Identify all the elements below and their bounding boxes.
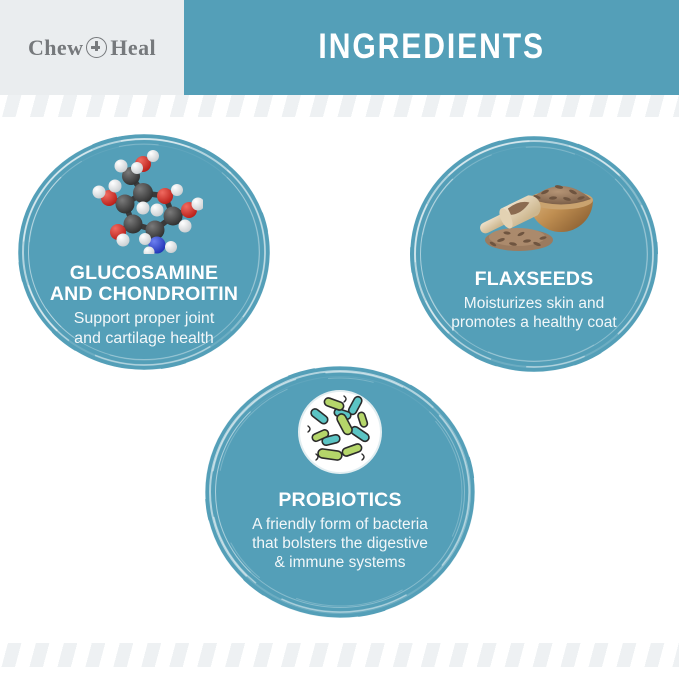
- brand-logo: Chew Heal: [28, 37, 156, 59]
- ingredient-circle-glucosamine: GLUCOSAMINE AND CHONDROITIN Support prop…: [18, 134, 270, 370]
- ingredient-title-glucosamine: GLUCOSAMINE AND CHONDROITIN: [50, 263, 238, 305]
- ingredient-desc-line1: Support proper joint: [74, 309, 215, 329]
- diagonal-stripe-band-top: [0, 95, 679, 117]
- bacteria-cluster-icon: [296, 388, 384, 481]
- ingredient-desc-line1: Moisturizes skin and: [451, 295, 616, 314]
- ingredient-title-line1: GLUCOSAMINE: [50, 263, 238, 284]
- ingredient-circle-probiotics: PROBIOTICS A friendly form of bacteria t…: [205, 366, 475, 618]
- ingredient-description-glucosamine: Support proper joint and cartilage healt…: [74, 309, 215, 348]
- ingredient-description-probiotics: A friendly form of bacteria that bolster…: [252, 516, 428, 573]
- title-panel: INGREDIENTS: [184, 0, 679, 95]
- ingredient-desc-line2: promotes a healthy coat: [451, 314, 616, 333]
- molecule-ball-and-stick-icon: [85, 146, 203, 259]
- ingredient-desc-line3: & immune systems: [252, 554, 428, 573]
- header-bar: Chew Heal INGREDIENTS: [0, 0, 679, 95]
- ingredient-title-probiotics: PROBIOTICS: [278, 490, 401, 511]
- diagonal-stripe-band-bottom: [0, 643, 679, 667]
- flaxseed-bowl-with-scoop-icon: [471, 158, 597, 259]
- brand-word-chew: Chew: [28, 37, 83, 59]
- ingredient-desc-line2: that bolsters the digestive: [252, 535, 428, 554]
- infographic-canvas: Chew Heal INGREDIENTS: [0, 0, 679, 679]
- ingredient-title-line2: AND CHONDROITIN: [50, 284, 238, 305]
- brand-word-heal: Heal: [110, 37, 156, 59]
- ingredient-desc-line2: and cartilage health: [74, 329, 215, 349]
- page-title: INGREDIENTS: [318, 29, 545, 66]
- ingredient-title-flaxseeds: FLAXSEEDS: [475, 269, 594, 290]
- plus-in-circle-icon: [86, 37, 107, 58]
- ingredient-description-flaxseeds: Moisturizes skin and promotes a healthy …: [451, 295, 616, 333]
- ingredient-desc-line1: A friendly form of bacteria: [252, 516, 428, 535]
- brand-panel: Chew Heal: [0, 0, 184, 95]
- ingredient-circle-flaxseeds: FLAXSEEDS Moisturizes skin and promotes …: [410, 136, 658, 372]
